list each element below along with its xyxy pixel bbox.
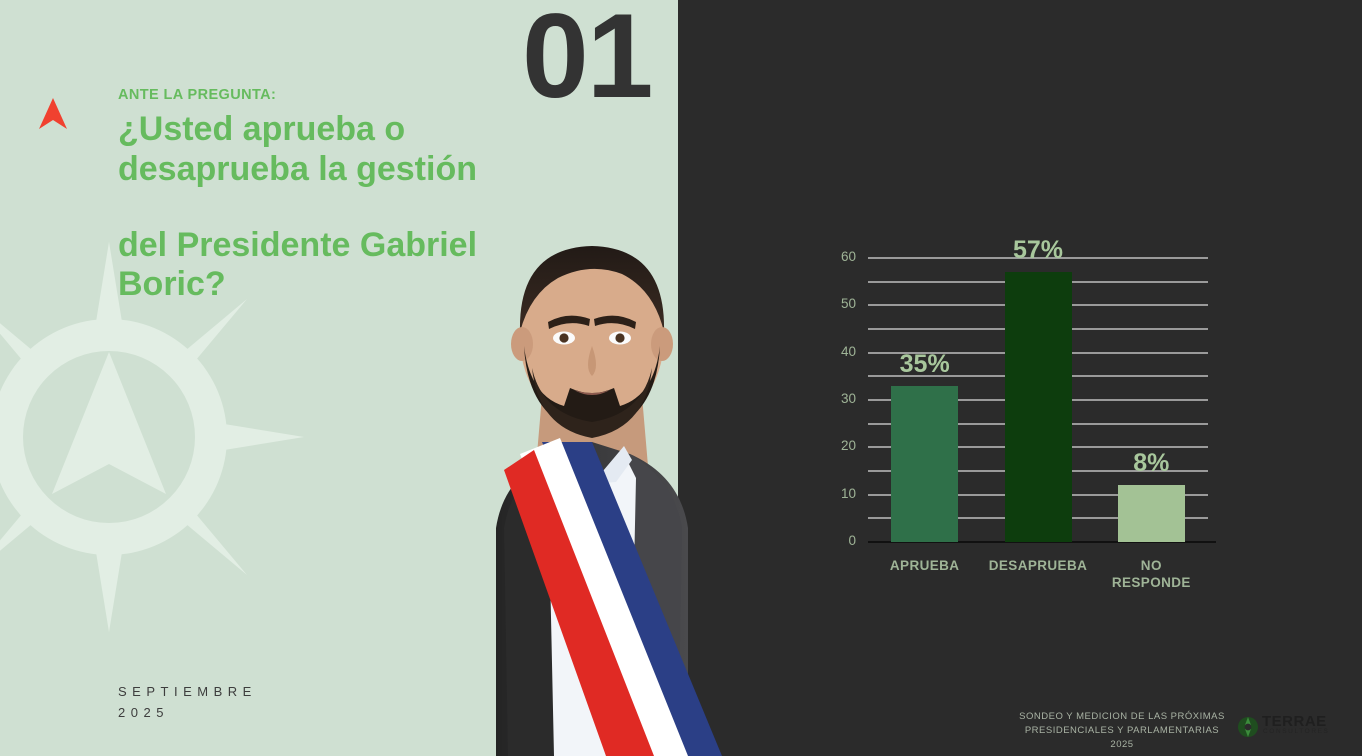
- y-axis-tick-label: 30: [816, 391, 856, 406]
- president-portrait: [392, 228, 792, 756]
- date-year: 2025: [118, 703, 257, 724]
- terrae-compass-icon: [1236, 714, 1260, 742]
- footer-line-2: PRESIDENCIALES Y PARLAMENTARIAS 2025: [1018, 724, 1226, 752]
- date-month: SEPTIEMBRE: [118, 682, 257, 703]
- section-number: 01: [522, 0, 651, 116]
- slide-root: ANTE LA PREGUNTA: ¿Usted aprueba o desap…: [0, 0, 1362, 756]
- x-axis-category-label: APRUEBA: [865, 558, 985, 575]
- approval-bar-chart: 010203040506035%APRUEBA57%DESAPRUEBA8%NO…: [812, 236, 1232, 606]
- y-axis-tick-label: 40: [816, 344, 856, 359]
- bar-aprueba: [891, 386, 958, 542]
- footer-caption: SONDEO Y MEDICION DE LAS PRÓXIMAS PRESID…: [1018, 710, 1226, 751]
- bar-no-responde: [1118, 485, 1185, 542]
- footer-line-1: SONDEO Y MEDICION DE LAS PRÓXIMAS: [1018, 710, 1226, 724]
- y-axis-tick-label: 0: [816, 533, 856, 548]
- y-axis-tick-label: 20: [816, 438, 856, 453]
- y-axis-tick-label: 10: [816, 486, 856, 501]
- x-axis-category-label: DESAPRUEBA: [978, 558, 1098, 575]
- chart-plot-area: 010203040506035%APRUEBA57%DESAPRUEBA8%NO…: [868, 258, 1208, 542]
- terrae-logo-tagline: CONSULTORES: [1263, 728, 1329, 735]
- bar-value-label: 57%: [978, 236, 1098, 265]
- bar-value-label: 8%: [1091, 449, 1211, 478]
- y-axis-tick-label: 50: [816, 296, 856, 311]
- eyebrow-label: ANTE LA PREGUNTA:: [118, 87, 276, 103]
- bar-value-label: 35%: [865, 350, 985, 379]
- bar-desaprueba: [1005, 272, 1072, 542]
- terrae-logo: TERRAE CONSULTORES: [1236, 712, 1348, 744]
- y-axis-tick-label: 60: [816, 249, 856, 264]
- date-stamp: SEPTIEMBRE 2025: [118, 682, 257, 724]
- x-axis-category-label: NORESPONDE: [1091, 558, 1211, 592]
- headline-line-1: ¿Usted aprueba o desaprueba la gestión: [118, 110, 588, 190]
- brand-arrow-icon: [38, 96, 68, 132]
